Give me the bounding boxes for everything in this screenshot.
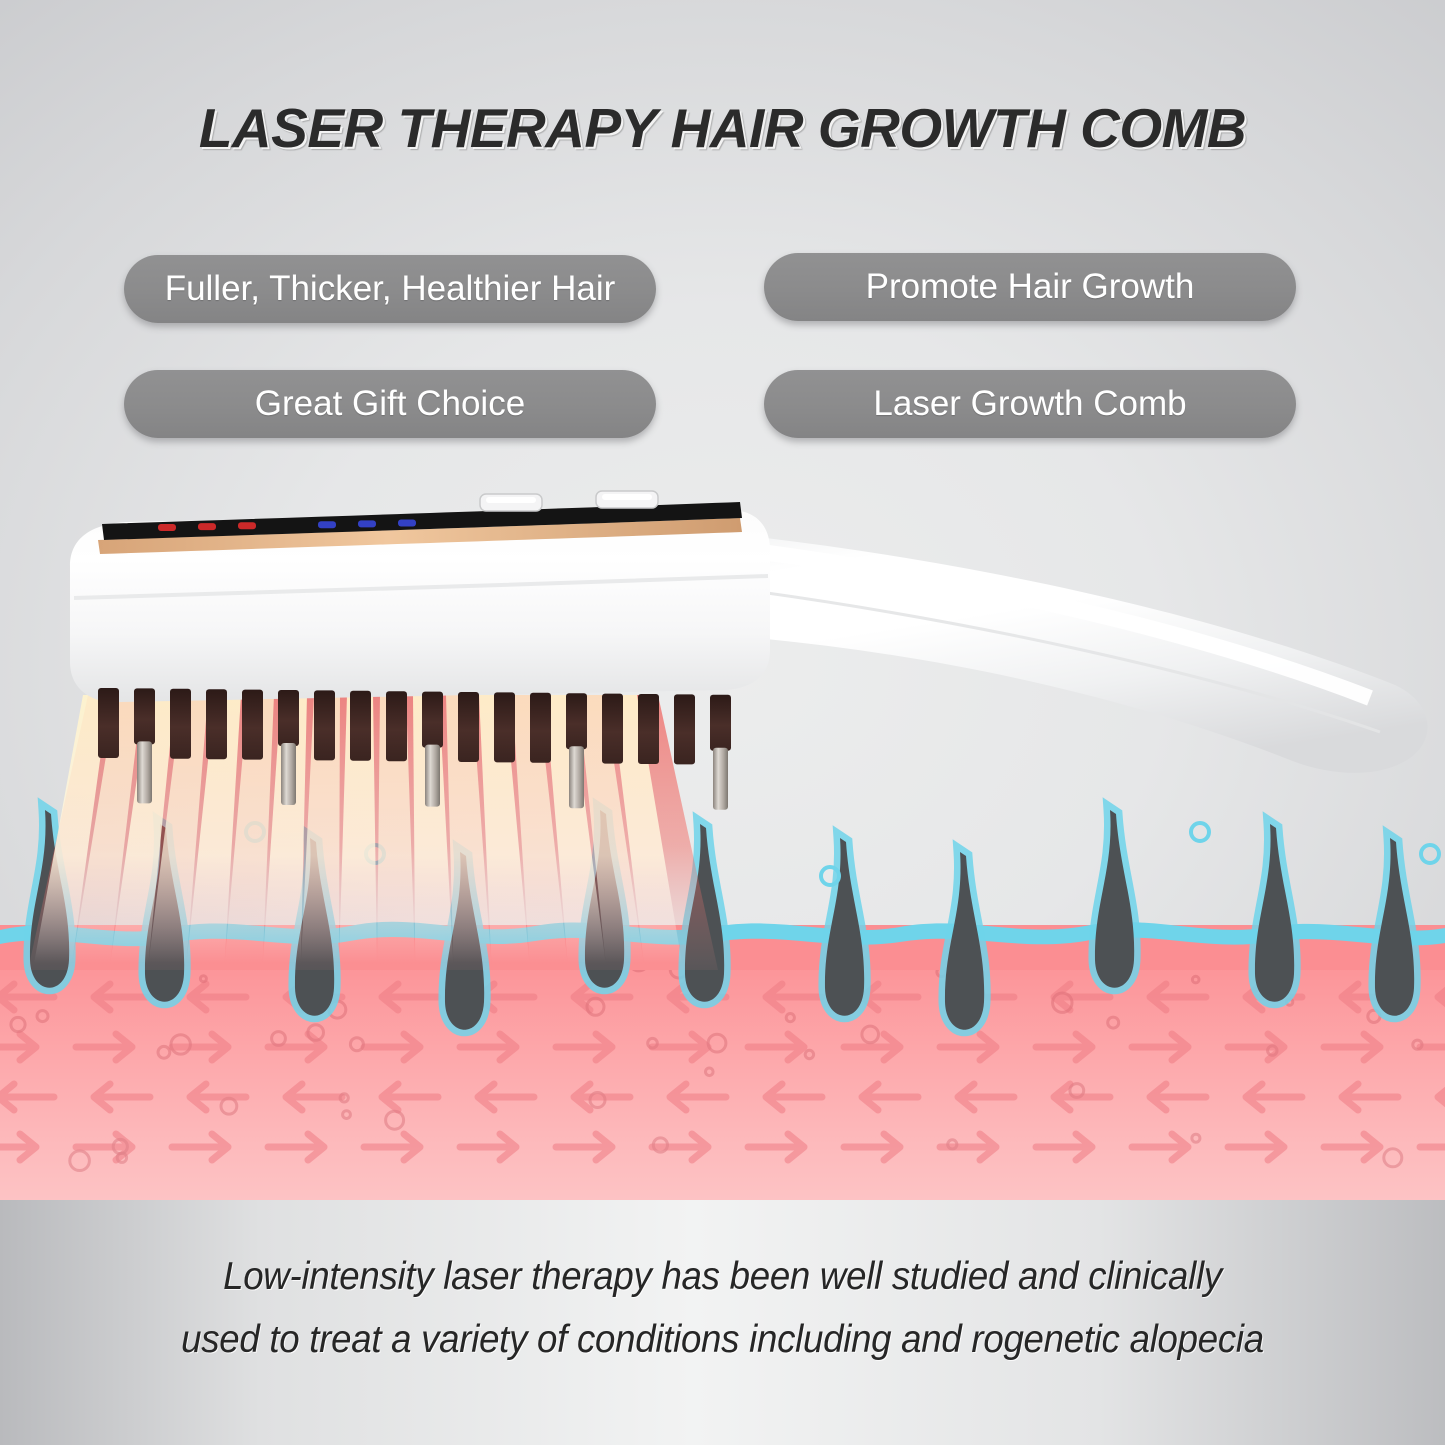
feature-pill-fuller-thicker-healthier-hair: Fuller, Thicker, Healthier Hair (124, 255, 656, 323)
laser-comb-device (40, 480, 1440, 880)
feature-pill-great-gift-choice: Great Gift Choice (124, 370, 656, 438)
product-marketing-image: LASER THERAPY HAIR GROWTH COMB Fuller, T… (0, 0, 1445, 1445)
device-button-1 (480, 494, 542, 511)
caption-line-2: used to treat a variety of conditions in… (43, 1308, 1401, 1371)
product-illustration-scene (0, 480, 1445, 1200)
feature-pill-label: Fuller, Thicker, Healthier Hair (165, 269, 616, 309)
feature-pill-promote-hair-growth: Promote Hair Growth (764, 253, 1296, 321)
feature-pill-label: Laser Growth Comb (873, 384, 1186, 424)
feature-pill-label: Promote Hair Growth (866, 267, 1195, 307)
page-title: LASER THERAPY HAIR GROWTH COMB (0, 96, 1445, 160)
comb-teeth-group (98, 688, 731, 810)
device-button-2 (596, 491, 658, 508)
bottom-caption: Low-intensity laser therapy has been wel… (0, 1245, 1445, 1371)
feature-pill-label: Great Gift Choice (255, 384, 525, 424)
caption-line-1: Low-intensity laser therapy has been wel… (43, 1245, 1401, 1308)
feature-pill-laser-growth-comb: Laser Growth Comb (764, 370, 1296, 438)
